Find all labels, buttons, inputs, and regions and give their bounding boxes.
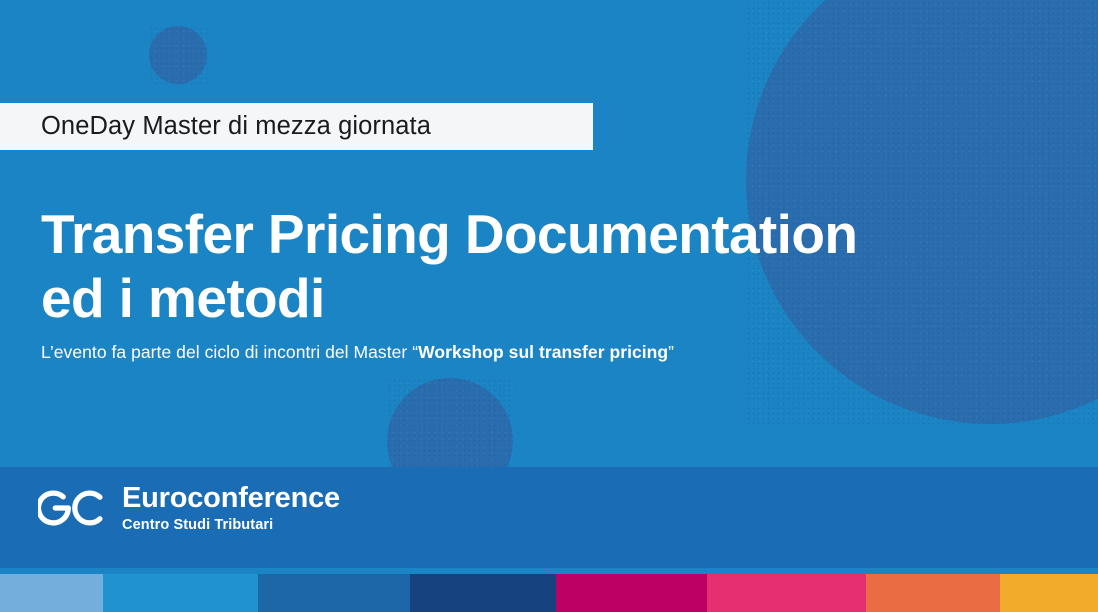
logo: Euroconference Centro Studi Tributari xyxy=(38,484,340,533)
color-strip-segment-magenta xyxy=(556,574,707,612)
page-title: Transfer Pricing Documentation ed i meto… xyxy=(41,203,1031,331)
color-strip-segment-light-blue xyxy=(0,574,103,612)
logo-title: Euroconference xyxy=(122,484,340,513)
color-strip-segment-bright-blue xyxy=(103,574,258,612)
logo-wordmark: Euroconference Centro Studi Tributari xyxy=(122,484,340,533)
subtitle-emphasis: Workshop sul transfer pricing xyxy=(418,342,668,362)
event-banner: OneDay Master di mezza giornata Transfer… xyxy=(0,0,1098,612)
color-strip xyxy=(0,574,1098,612)
color-strip-segment-orange xyxy=(866,574,1000,612)
color-strip-segment-medium-blue xyxy=(258,574,410,612)
color-strip-segment-dark-blue xyxy=(410,574,556,612)
color-strip-segment-yellow xyxy=(1000,574,1098,612)
kicker-badge: OneDay Master di mezza giornata xyxy=(0,103,593,150)
subtitle-prefix: L’evento fa parte del ciclo di incontri … xyxy=(41,342,418,362)
headline-line-2: ed i metodi xyxy=(41,267,1031,331)
kicker-label: OneDay Master di mezza giornata xyxy=(41,112,431,141)
logo-subtitle: Centro Studi Tributari xyxy=(122,518,340,533)
ec-monogram-icon xyxy=(38,484,110,532)
subtitle-suffix: ” xyxy=(668,342,674,362)
subtitle: L’evento fa parte del ciclo di incontri … xyxy=(41,342,674,363)
headline-line-1: Transfer Pricing Documentation xyxy=(41,203,1031,267)
color-strip-segment-pink xyxy=(707,574,866,612)
banner-content: OneDay Master di mezza giornata Transfer… xyxy=(0,0,1098,612)
